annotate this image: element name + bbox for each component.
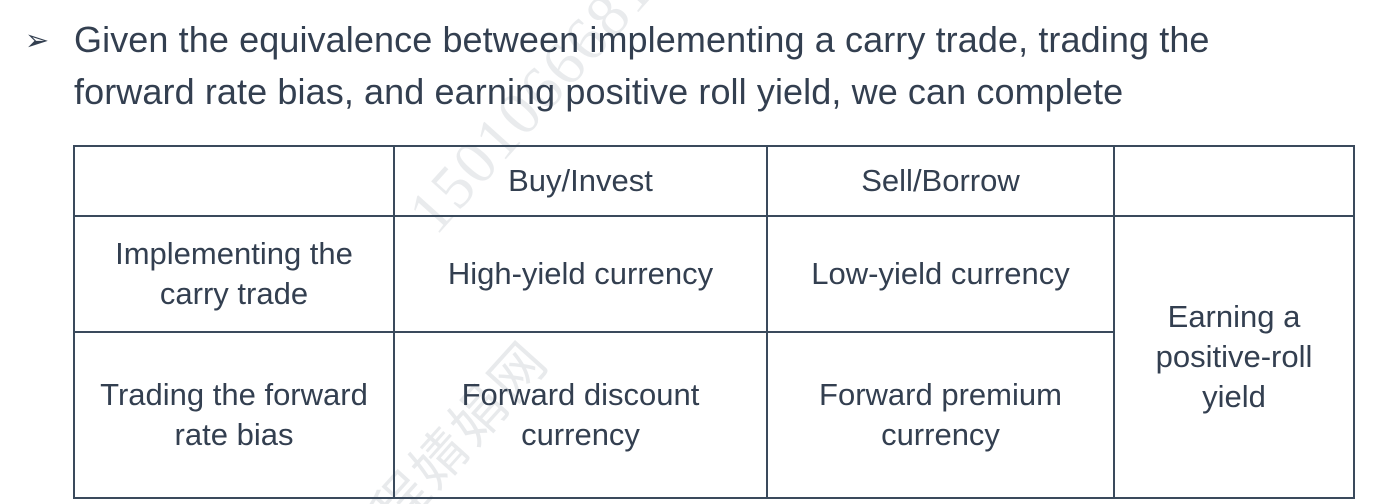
arrowhead-bullet-icon: ➢ xyxy=(0,14,74,66)
row-label-carry-trade: Implementing the carry trade xyxy=(74,216,394,332)
cell-fwd-sell-borrow: Forward premium currency xyxy=(767,332,1114,498)
cell-outcome-roll-yield: Earning a positive-roll yield xyxy=(1114,216,1354,498)
header-cell-sell-borrow: Sell/Borrow xyxy=(767,146,1114,216)
cell-carry-buy-invest: High-yield currency xyxy=(394,216,767,332)
table-row-carry-trade: Implementing the carry trade High-yield … xyxy=(74,216,1354,332)
bullet-paragraph-text: Given the equivalence between implementi… xyxy=(74,14,1336,118)
table-header-row: Buy/Invest Sell/Borrow xyxy=(74,146,1354,216)
header-cell-blank xyxy=(74,146,394,216)
cell-carry-sell-borrow: Low-yield currency xyxy=(767,216,1114,332)
header-cell-outcome-blank xyxy=(1114,146,1354,216)
bullet-paragraph: ➢ Given the equivalence between implemen… xyxy=(0,14,1360,118)
header-cell-buy-invest: Buy/Invest xyxy=(394,146,767,216)
equivalence-table: Buy/Invest Sell/Borrow Implementing the … xyxy=(73,145,1355,499)
row-label-forward-rate-bias: Trading the forward rate bias xyxy=(74,332,394,498)
cell-fwd-buy-invest: Forward discount currency xyxy=(394,332,767,498)
